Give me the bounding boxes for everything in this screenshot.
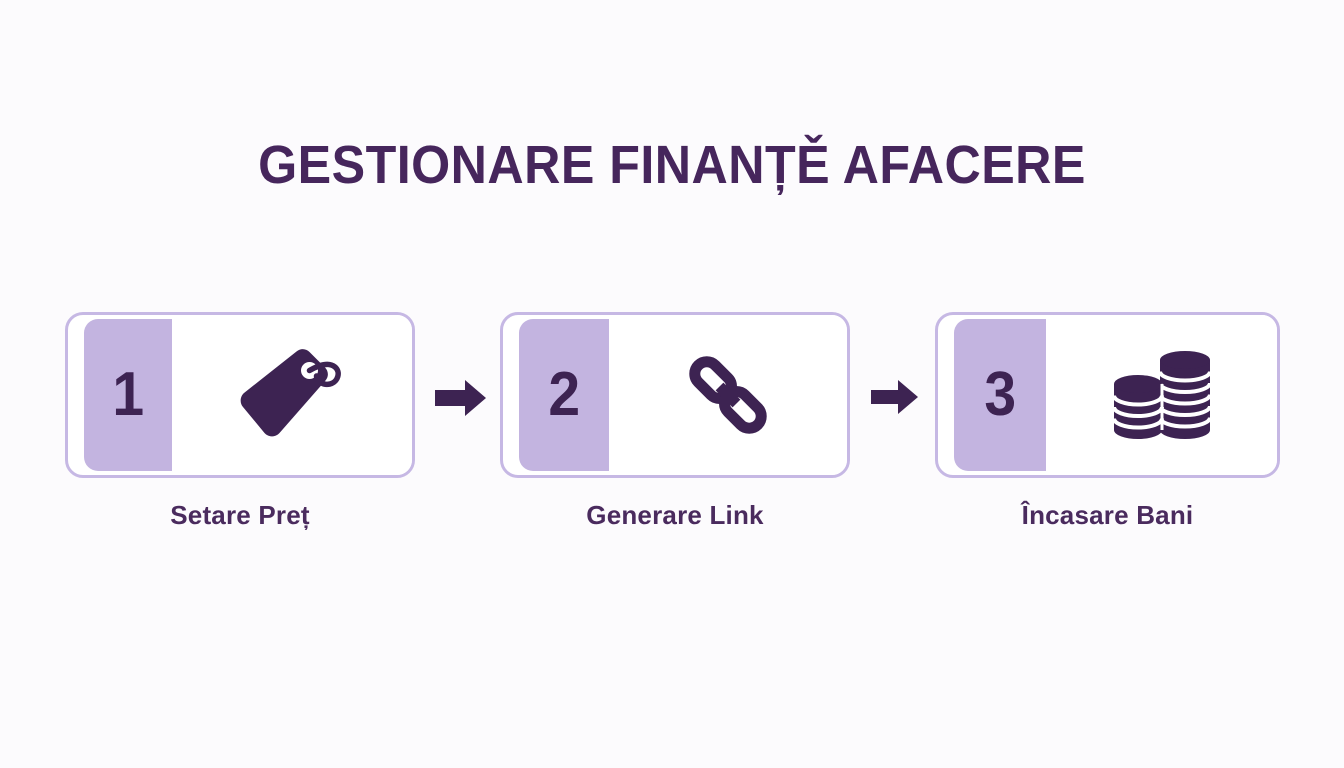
price-tag-icon	[233, 345, 351, 445]
step-card-2[interactable]: 2	[500, 312, 850, 531]
step-card-1[interactable]: 1 Setare Preț	[65, 312, 415, 531]
page-title: GESTIONARE FINANȚĚ AFACERE	[47, 134, 1297, 196]
step-card-3[interactable]: 3	[935, 312, 1280, 531]
card-icon-area-2	[609, 315, 847, 475]
arrow-step2-to-step3	[871, 378, 919, 416]
arrow-step1-to-step2	[435, 378, 487, 418]
card-body-2[interactable]: 2	[500, 312, 850, 478]
card-icon-area-1	[172, 315, 412, 475]
card-number-2: 2	[548, 364, 580, 426]
card-number-panel-2: 2	[519, 319, 609, 471]
steps-row: 1 Setare Preț	[65, 312, 1280, 542]
coin-stacks-icon	[1110, 346, 1214, 444]
card-body-1[interactable]: 1	[65, 312, 415, 478]
card-number-1: 1	[112, 364, 144, 426]
card-number-panel-3: 3	[954, 319, 1046, 471]
card-body-3[interactable]: 3	[935, 312, 1280, 478]
card-number-panel-1: 1	[84, 319, 172, 471]
chain-link-icon	[678, 345, 778, 445]
card-icon-area-3	[1046, 315, 1277, 475]
card-number-3: 3	[984, 364, 1016, 426]
infographic-canvas: GESTIONARE FINANȚĚ AFACERE 1	[0, 0, 1344, 768]
step-label-3: Încasare Bani	[935, 500, 1280, 531]
step-label-1: Setare Preț	[65, 500, 415, 531]
step-label-2: Generare Link	[500, 500, 850, 531]
